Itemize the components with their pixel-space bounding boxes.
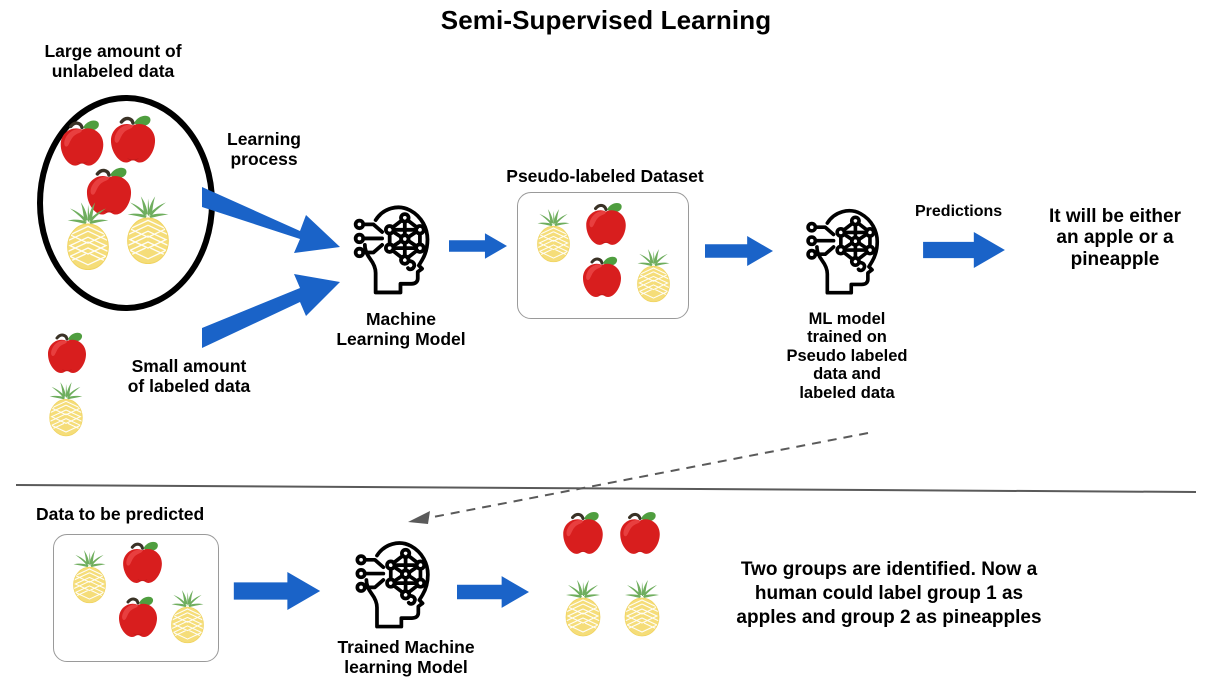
apple-icon	[580, 196, 632, 248]
apple-icon	[117, 535, 168, 586]
pineapple-icon	[617, 577, 667, 639]
pineapple-icon	[66, 548, 113, 605]
pineapple-icon	[558, 577, 608, 639]
apple-icon	[614, 505, 666, 557]
trained-model-line3: Pseudo labeled	[770, 347, 924, 365]
labeled-data-label: Small amount of labeled data	[104, 357, 274, 396]
machine-learning-model-label: Machine Learning Model	[330, 310, 472, 349]
data-to-predict-label: Data to be predicted	[36, 505, 256, 525]
learning-process-line2: process	[200, 150, 328, 170]
trained-machine-label: Trained Machine learning Model	[318, 638, 494, 677]
labeled-data-line2: of labeled data	[104, 377, 274, 397]
pineapple-icon	[630, 247, 677, 304]
diagram-canvas: Semi-Supervised Learning	[0, 0, 1212, 684]
apple-icon	[557, 505, 609, 557]
predictions-label: Predictions	[915, 203, 1025, 221]
trained-machine-line1: Trained Machine	[318, 638, 494, 658]
pineapple-icon	[58, 200, 118, 272]
trained-model-line2: trained on	[770, 328, 924, 346]
arrow-model-to-pseudo	[449, 229, 507, 263]
pineapple-icon	[164, 588, 211, 645]
conclusion-text: Two groups are identified. Now a human c…	[704, 558, 1074, 630]
unlabeled-data-label: Large amount of unlabeled data	[18, 42, 208, 81]
apple-icon	[577, 250, 627, 300]
unlabeled-data-label-line2: unlabeled data	[18, 62, 208, 82]
trained-model-line4: data and	[770, 365, 924, 383]
apple-icon	[42, 326, 92, 376]
arrow-predict-to-trained	[232, 572, 322, 610]
apple-icon	[113, 590, 163, 640]
ai-head-icon	[340, 192, 448, 300]
prediction-line1: It will be either	[1022, 206, 1208, 227]
trained-model-line1: ML model	[770, 310, 924, 328]
prediction-result-text: It will be either an apple or a pineappl…	[1022, 206, 1208, 270]
labeled-data-line1: Small amount	[104, 357, 274, 377]
arrow-unlabeled-to-model	[200, 185, 342, 257]
ai-head-icon	[342, 528, 448, 634]
conclusion-line3: apples and group 2 as pineapples	[704, 606, 1074, 630]
arrow-pseudo-to-trained	[705, 233, 773, 269]
arrow-labeled-to-model	[200, 278, 342, 350]
arrow-predictions	[918, 232, 1010, 268]
pseudo-dataset-label: Pseudo-labeled Dataset	[490, 167, 720, 187]
prediction-line2: an apple or a	[1022, 227, 1208, 248]
pineapple-icon	[530, 207, 577, 264]
unlabeled-data-label-line1: Large amount of	[18, 42, 208, 62]
trained-model-label: ML model trained on Pseudo labeled data …	[770, 310, 924, 402]
arrow-trained-to-groups	[457, 574, 529, 610]
ml-model-line2: Learning Model	[330, 330, 472, 350]
learning-process-label: Learning process	[200, 130, 328, 169]
apple-icon	[104, 108, 162, 166]
trained-machine-line2: learning Model	[318, 658, 494, 678]
conclusion-line1: Two groups are identified. Now a	[704, 558, 1074, 582]
ai-head-icon	[793, 196, 897, 300]
page-title: Semi-Supervised Learning	[0, 6, 1212, 35]
conclusion-line2: human could label group 1 as	[704, 582, 1074, 606]
prediction-line3: pineapple	[1022, 249, 1208, 270]
ml-model-line1: Machine	[330, 310, 472, 330]
trained-model-line5: labeled data	[770, 384, 924, 402]
pineapple-icon	[118, 194, 178, 266]
learning-process-line1: Learning	[200, 130, 328, 150]
